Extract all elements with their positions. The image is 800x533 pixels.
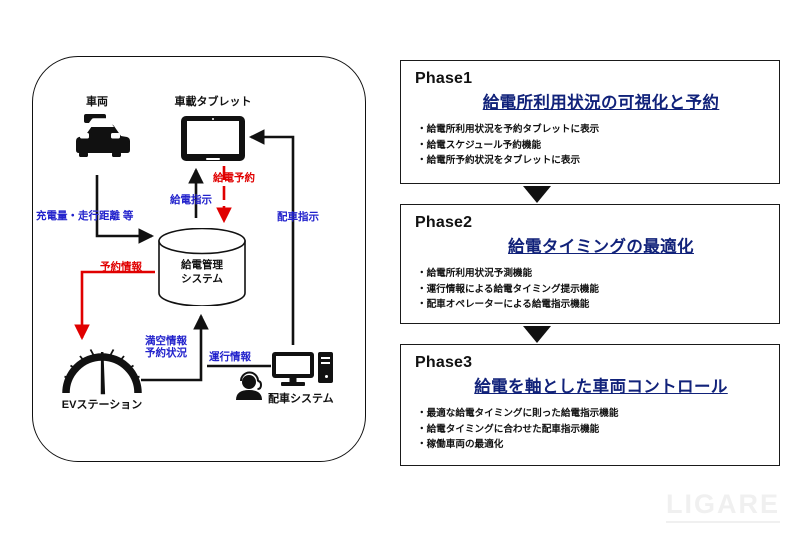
- phase1-item: ・給電スケジュール予約機能: [417, 138, 779, 154]
- power-management-system-db: 給電管理 システム: [157, 228, 247, 306]
- phase3-box: Phase3 給電を軸とした車両コントロール ・最適な給電タイミングに則った給電…: [400, 344, 780, 466]
- ev-station-gauge-icon: [65, 350, 140, 394]
- dispatch-system-label: 配車システム: [268, 393, 334, 406]
- tower-power-dot: [325, 375, 328, 378]
- pc-tower-icon: [318, 352, 333, 383]
- flow-vehicle-to-db: [97, 175, 152, 236]
- tower-slot: [321, 362, 330, 364]
- tablet-label: 車載タブレット: [163, 96, 263, 109]
- flow-db-to-evstation: [82, 272, 155, 338]
- flow-label-reservation-info: 予約情報: [100, 261, 142, 273]
- monitor-base: [281, 382, 305, 386]
- flow-label-dispatch-instruction: 配車指示: [277, 211, 319, 223]
- phase1-subtitle: 給電所利用状況の可視化と予約: [423, 89, 779, 113]
- phase2-to-phase3-arrow: [523, 326, 551, 343]
- tablet-home-button: [206, 158, 220, 160]
- phase2-item: ・給電所利用状況予測機能: [417, 266, 779, 282]
- operator-headset-icon: [236, 373, 262, 401]
- monitor-body: [272, 352, 314, 378]
- flow-label-power-reservation: 給電予約: [213, 172, 255, 184]
- tablet-camera: [212, 118, 214, 120]
- ligare-watermark: LIGARE: [666, 489, 780, 523]
- flow-label-power-instruction: 給電指示: [170, 194, 212, 206]
- phase2-item-list: ・給電所利用状況予測機能 ・運行情報による給電タイミング提示機能 ・配車オペレー…: [417, 266, 779, 313]
- monitor-screen: [276, 356, 310, 374]
- phase1-item: ・給電所予約状況をタブレットに表示: [417, 153, 779, 169]
- flow-dispatch-to-tablet: [251, 137, 293, 345]
- flow-label-operation-info: 運行情報: [209, 351, 251, 363]
- phase2-title: Phase2: [415, 214, 779, 232]
- phase2-item: ・運行情報による給電タイミング提示機能: [417, 282, 779, 298]
- phase3-item: ・給電タイミングに合わせた配車指示機能: [417, 422, 779, 438]
- flow-label-charge-distance: 充電量・走行距離 等: [36, 210, 133, 222]
- db-label: 給電管理 システム: [157, 258, 247, 286]
- phase1-to-phase2-arrow: [523, 186, 551, 203]
- phase1-title: Phase1: [415, 70, 779, 88]
- tablet-screen: [187, 121, 239, 154]
- phase1-item: ・給電所利用状況を予約タブレットに表示: [417, 122, 779, 138]
- phase3-item-list: ・最適な給電タイミングに則った給電指示機能 ・給電タイミングに合わせた配車指示機…: [417, 406, 779, 453]
- phase3-item: ・最適な給電タイミングに則った給電指示機能: [417, 406, 779, 422]
- tower-slot: [321, 357, 330, 359]
- in-vehicle-tablet-icon: [181, 116, 245, 161]
- phase2-subtitle: 給電タイミングの最適化: [423, 233, 779, 257]
- ev-station-label: EVステーション: [42, 399, 162, 412]
- vehicle-taxi-icon: [76, 114, 130, 157]
- phase3-item: ・稼働車両の最適化: [417, 437, 779, 453]
- flow-label-availability: 満空情報 予約状況: [134, 335, 198, 359]
- phase3-title: Phase3: [415, 354, 779, 372]
- phase1-box: Phase1 給電所利用状況の可視化と予約 ・給電所利用状況を予約タブレットに表…: [400, 60, 780, 184]
- phase3-subtitle: 給電を軸とした車両コントロール: [423, 373, 779, 397]
- phase2-item: ・配車オペレーターによる給電指示機能: [417, 297, 779, 313]
- phase2-box: Phase2 給電タイミングの最適化 ・給電所利用状況予測機能 ・運行情報による…: [400, 204, 780, 324]
- phase1-item-list: ・給電所利用状況を予約タブレットに表示 ・給電スケジュール予約機能 ・給電所予約…: [417, 122, 779, 169]
- dispatch-monitor-icon: [272, 352, 314, 385]
- vehicle-label: 車両: [72, 96, 122, 109]
